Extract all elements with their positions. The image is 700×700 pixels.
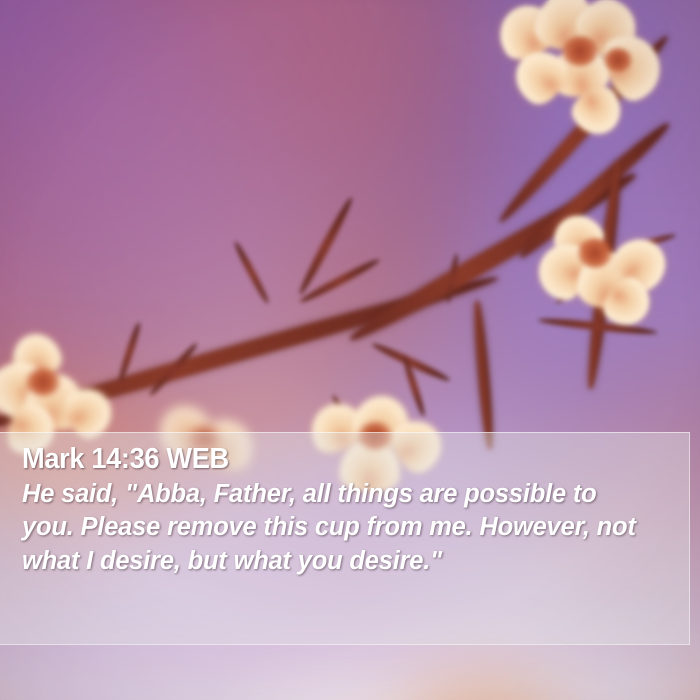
verse-reference: Mark 14:36 WEB [22, 443, 636, 476]
verse-text: He said, "Abba, Father, all things are p… [22, 478, 654, 577]
blossom-cluster-right-middle [530, 196, 700, 346]
verse-image: Mark 14:36 WEB He said, "Abba, Father, a… [0, 0, 700, 700]
verse-overlay-panel: Mark 14:36 WEB He said, "Abba, Father, a… [0, 432, 690, 645]
blossom-cluster-top-right [492, 0, 700, 174]
